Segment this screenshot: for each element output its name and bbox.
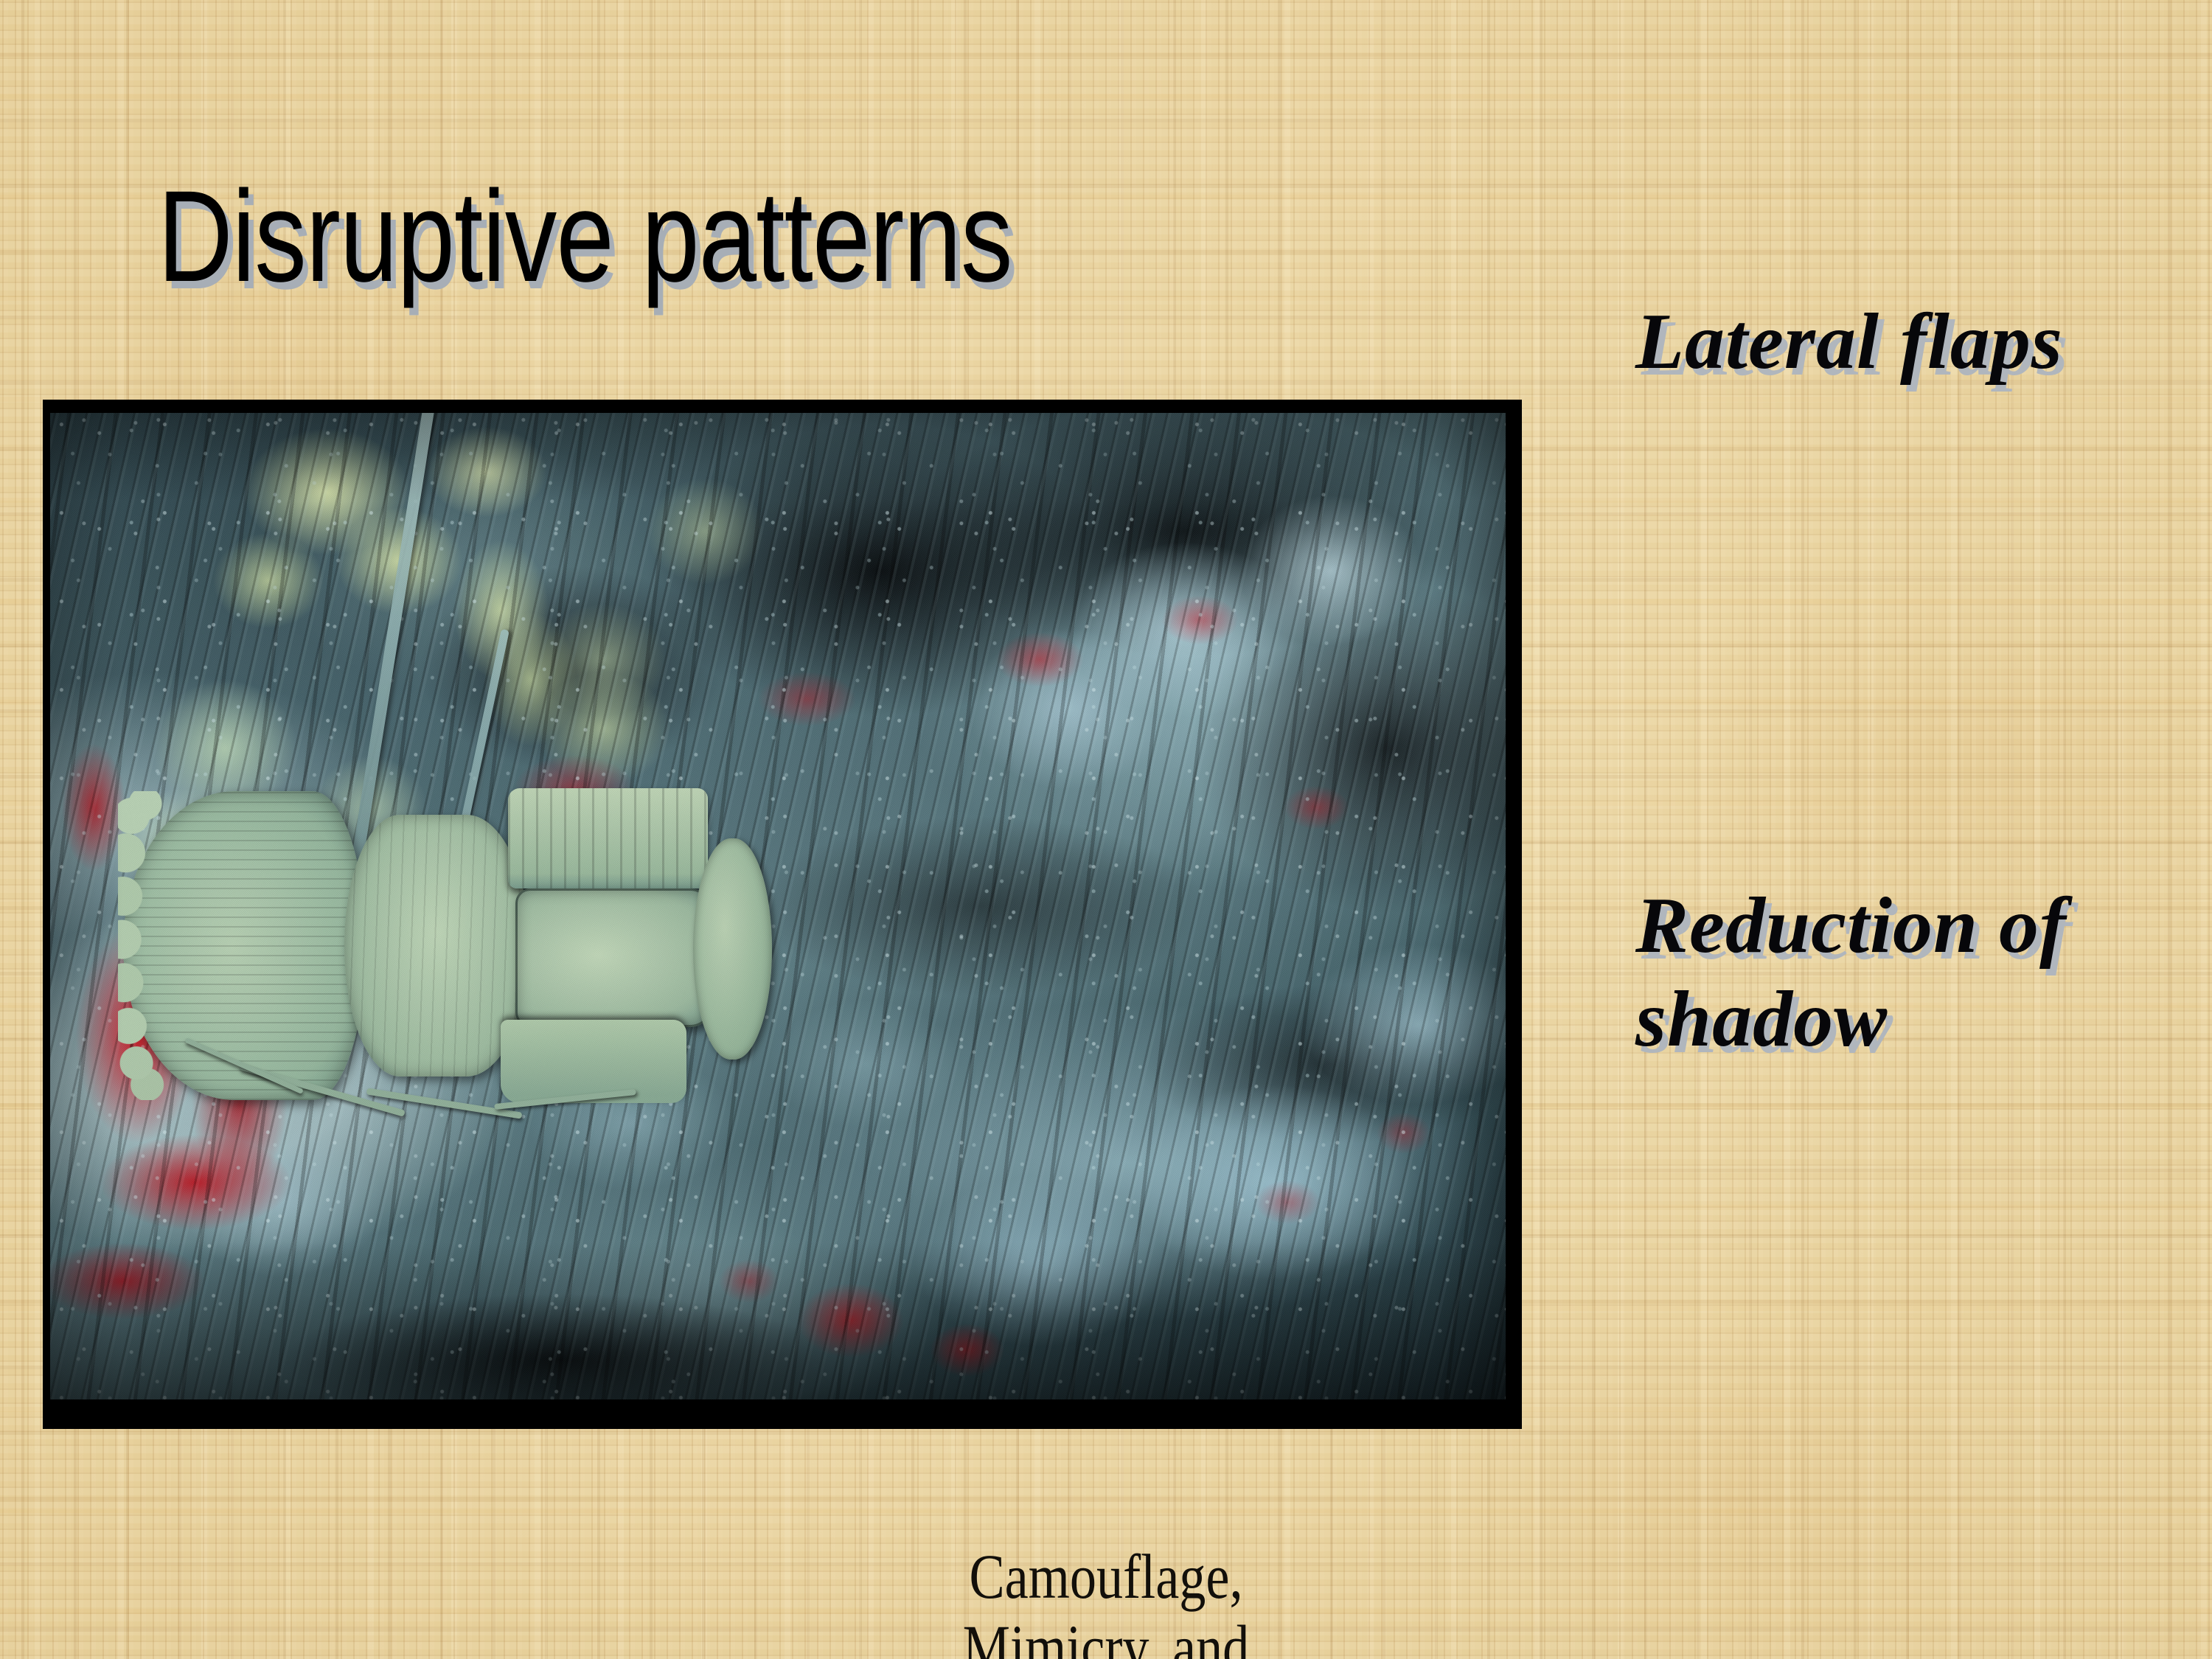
slide-title-container: Disruptive patterns (158, 171, 1225, 304)
photo-edge-shading (50, 413, 1506, 1399)
footer-line-2: Mimicry, and (177, 1612, 2035, 1659)
photo-frame (43, 400, 1522, 1429)
footer-line-1: Camouflage, (177, 1541, 2035, 1612)
callout-lateral-flaps: Lateral flaps (1635, 295, 2107, 389)
camouflage-photo (50, 413, 1506, 1399)
footer-text: Camouflage, Mimicry, and (0, 1541, 2212, 1659)
slide-canvas: Disruptive patterns (0, 0, 2212, 1659)
page-title: Disruptive patterns (158, 171, 1012, 304)
callout-reduction-of-shadow: Reduction of shadow (1635, 879, 2174, 1067)
